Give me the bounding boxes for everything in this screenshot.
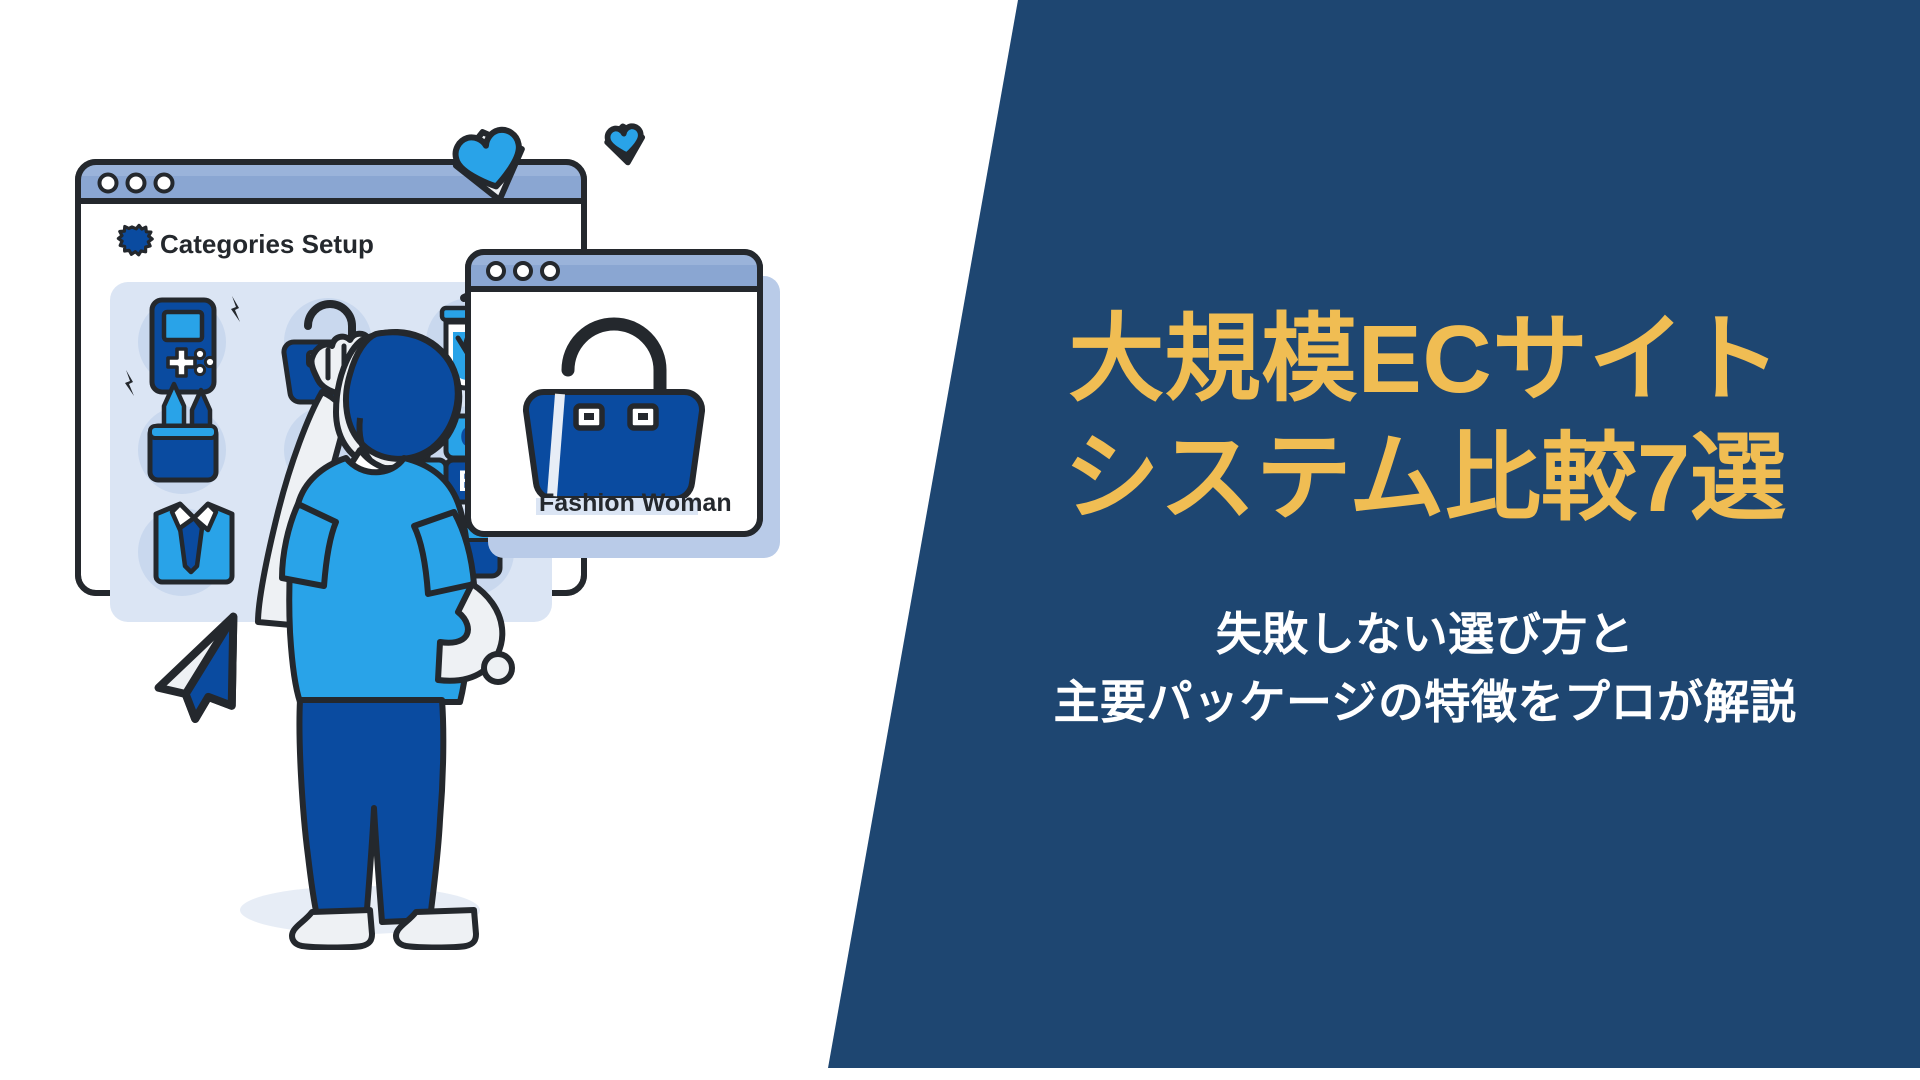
hero-banner: Categories Setup [0, 0, 1920, 1080]
subtitle: 失敗しない選び方と 主要パッケージの特徴をプロが解説 [975, 600, 1875, 736]
headline-line-1: 大規模ECサイト [975, 300, 1875, 419]
hero-illustration: Categories Setup [60, 120, 880, 950]
gear-icon [118, 225, 152, 254]
fashion-woman-label: Fashion Woman [539, 489, 732, 517]
headline: 大規模ECサイト システム比較7選 [975, 300, 1875, 538]
shirt-tie-icon [156, 504, 232, 582]
window-traffic-lights [488, 263, 558, 279]
heart-icon [605, 124, 645, 165]
subtitle-line-1: 失敗しない選び方と [975, 600, 1875, 668]
window-traffic-lights [100, 175, 173, 192]
subtitle-line-2: 主要パッケージの特徴をプロが解説 [975, 668, 1875, 736]
fashion-woman-window: Fashion Woman [468, 252, 760, 534]
categories-setup-title: Categories Setup [160, 229, 374, 259]
paper-plane-icon [150, 617, 247, 724]
headline-line-2: システム比較7選 [975, 419, 1875, 538]
handheld-game-console-icon [152, 300, 215, 392]
hero-text-block: 大規模ECサイト システム比較7選 失敗しない選び方と 主要パッケージの特徴をプ… [975, 300, 1875, 736]
